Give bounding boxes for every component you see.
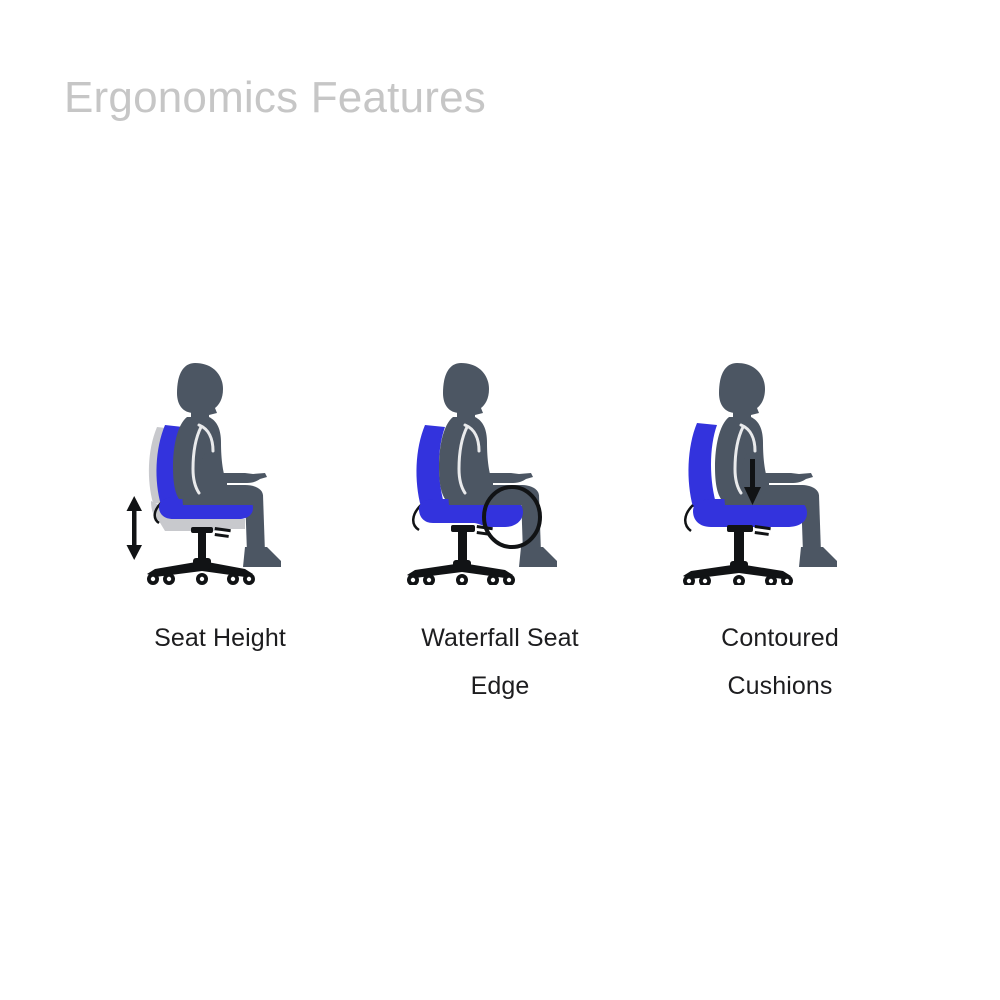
chair-cylinder — [191, 527, 231, 563]
illustration-waterfall-seat-edge — [375, 355, 625, 585]
chair-cylinder — [727, 525, 771, 567]
figure-body — [715, 363, 819, 505]
height-adjust-arrow-icon — [127, 496, 143, 560]
illustration-seat-height — [95, 355, 345, 585]
features-row: Seat Height — [0, 355, 1000, 710]
feature-caption-waterfall-seat-edge: Waterfall Seat Edge — [405, 615, 595, 710]
chair-base-casters — [147, 558, 255, 585]
feature-caption-contoured-cushions: Contoured Cushions — [698, 615, 863, 710]
feature-caption-seat-height: Seat Height — [154, 615, 286, 663]
chair-base-casters — [407, 560, 515, 585]
figure-body — [439, 363, 539, 505]
feature-card-contoured-cushions: Contoured Cushions — [640, 355, 920, 710]
page-title: Ergonomics Features — [64, 72, 486, 125]
chair-base-casters — [683, 561, 793, 585]
illustration-contoured-cushions — [655, 355, 905, 585]
backrest-cushion — [688, 423, 717, 507]
figure-body — [173, 363, 267, 505]
feature-card-seat-height: Seat Height — [80, 355, 360, 663]
feature-card-waterfall-seat-edge: Waterfall Seat Edge — [360, 355, 640, 710]
